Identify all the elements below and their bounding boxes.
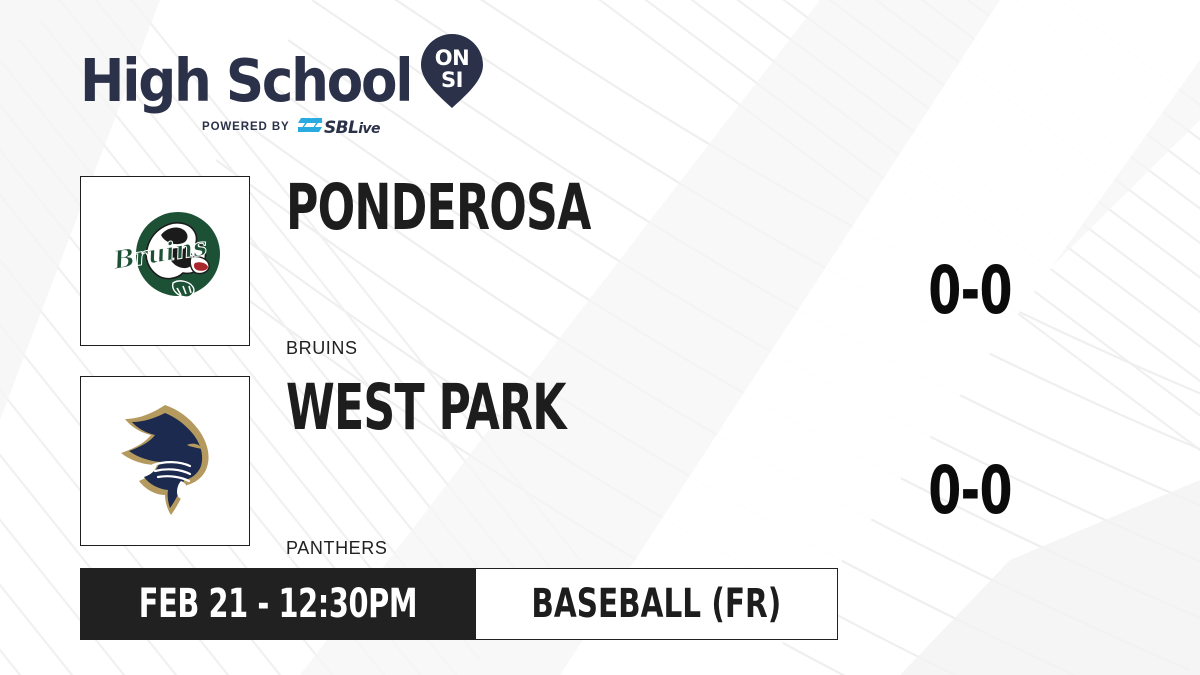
page-title: High School [80,50,411,112]
team-mascot-2: PANTHERS [286,538,387,559]
powered-by-label: POWERED BY [202,121,290,133]
team-name-1: PONDEROSA [286,176,591,239]
brand-header: High School ON SI POWERED BY SBLive [80,32,485,138]
brand-title-row: High School ON SI [80,32,485,112]
team-mascot-1: BRUINS [286,338,358,359]
game-sport-label: BASEBALL (FR) [531,584,781,624]
on-si-pin-icon: ON SI [419,32,485,110]
sblive-logo: SBLive [298,116,398,138]
ponderosa-bruins-logo: Bruins [95,191,235,331]
game-info-bar: FEB 21 - 12:30PM BASEBALL (FR) [80,568,838,640]
scoreboard-graphic: High School ON SI POWERED BY SBLive [0,0,1200,675]
sblive-wordmark: SBLive [324,118,380,138]
team-name-2: WEST PARK [286,376,566,439]
pin-bottom-label: SI [441,68,463,92]
game-datetime-label: FEB 21 - 12:30PM [139,584,417,624]
game-sport-chip: BASEBALL (FR) [476,568,838,640]
game-datetime-chip: FEB 21 - 12:30PM [80,568,476,640]
team-logo-box-2 [80,376,250,546]
west-park-panthers-logo [95,391,235,531]
powered-by-row: POWERED BY SBLive [202,116,485,138]
team-score-1: 0-0 [890,258,1050,324]
team-score-2: 0-0 [890,458,1050,524]
team-logo-box-1: Bruins [80,176,250,346]
pin-top-label: ON [435,46,469,70]
